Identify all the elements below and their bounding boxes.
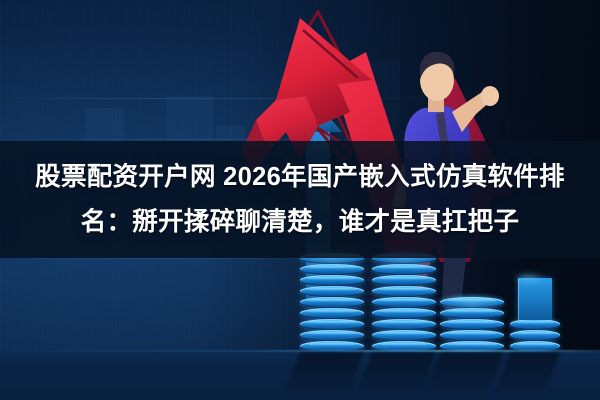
coin-stack-1: [300, 252, 364, 352]
coin-stack-2: [372, 252, 436, 352]
title-line-1: 股票配资开户网 2026年国产嵌入式仿真软件排: [35, 155, 565, 200]
title-block: 股票配资开户网 2026年国产嵌入式仿真软件排 名：掰开揉碎聊清楚，谁才是真扛把…: [0, 141, 600, 258]
coin-stack-3: [440, 296, 504, 352]
coin-stack-4: [510, 278, 560, 352]
banner-image: 股票配资开户网 2026年国产嵌入式仿真软件排 名：掰开揉碎聊清楚，谁才是真扛把…: [0, 0, 600, 400]
coin-stack-4-bar: [518, 278, 552, 320]
title-line-2: 名：掰开揉碎聊清楚，谁才是真扛把子: [81, 200, 520, 245]
